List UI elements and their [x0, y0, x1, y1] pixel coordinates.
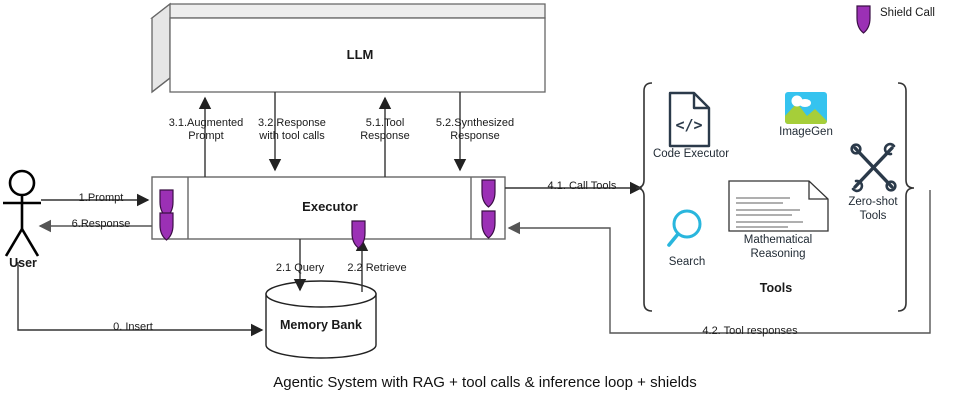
edge-label-4-2-tool-responses: 4.2. Tool responses: [665, 325, 835, 338]
tool-label-search: Search: [655, 256, 719, 270]
tool-label-zero-shot-tools: Zero-shot Tools: [836, 196, 910, 223]
node-label-memory-bank: Memory Bank: [266, 319, 376, 332]
edge-label-0-insert: 0. Insert: [88, 321, 178, 334]
edge-label-2-2-retrieve: 2.2 Retrieve: [332, 262, 422, 275]
diagram-canvas: </>: [0, 0, 970, 411]
edge-0-insert: [18, 262, 262, 330]
edge-label-2-1-query: 2.1 Query: [262, 262, 338, 275]
node-label-user: User: [0, 257, 46, 270]
node-user[interactable]: [3, 171, 41, 256]
edge-label-1-prompt: 1.Prompt: [57, 192, 145, 205]
edge-label-3-2: 3.2.Response with tool calls: [232, 117, 352, 143]
node-label-llm: LLM: [300, 48, 420, 61]
node-label-executor: Executor: [270, 200, 390, 213]
formula-document-icon[interactable]: [729, 181, 828, 231]
crossed-wrenches-icon[interactable]: [852, 144, 896, 191]
edge-label-5-2: 5.2.Synthesized Response: [416, 117, 534, 143]
shield-exec-bottom-icon: [352, 221, 365, 248]
edge-label-4-1-call-tools: 4.1. Call Tools: [529, 180, 635, 193]
svg-text:</>: </>: [675, 116, 702, 134]
tool-label-imagegen: ImageGen: [766, 126, 846, 140]
magnifier-icon[interactable]: [669, 211, 700, 245]
edge-label-6-response: 6.Response: [52, 218, 150, 231]
image-picture-icon[interactable]: [785, 92, 827, 124]
diagram-vector-layer: </>: [0, 0, 970, 411]
legend-shield-icon: [857, 6, 870, 33]
tool-label-mathematical-reasoning: Mathematical Reasoning: [724, 234, 832, 261]
tool-label-code-executor: Code Executor: [645, 148, 737, 162]
diagram-caption: Agentic System with RAG + tool calls & i…: [0, 374, 970, 391]
tools-group-label: Tools: [726, 282, 826, 295]
legend-label: Shield Call: [880, 7, 964, 20]
code-document-icon[interactable]: </>: [670, 93, 709, 146]
